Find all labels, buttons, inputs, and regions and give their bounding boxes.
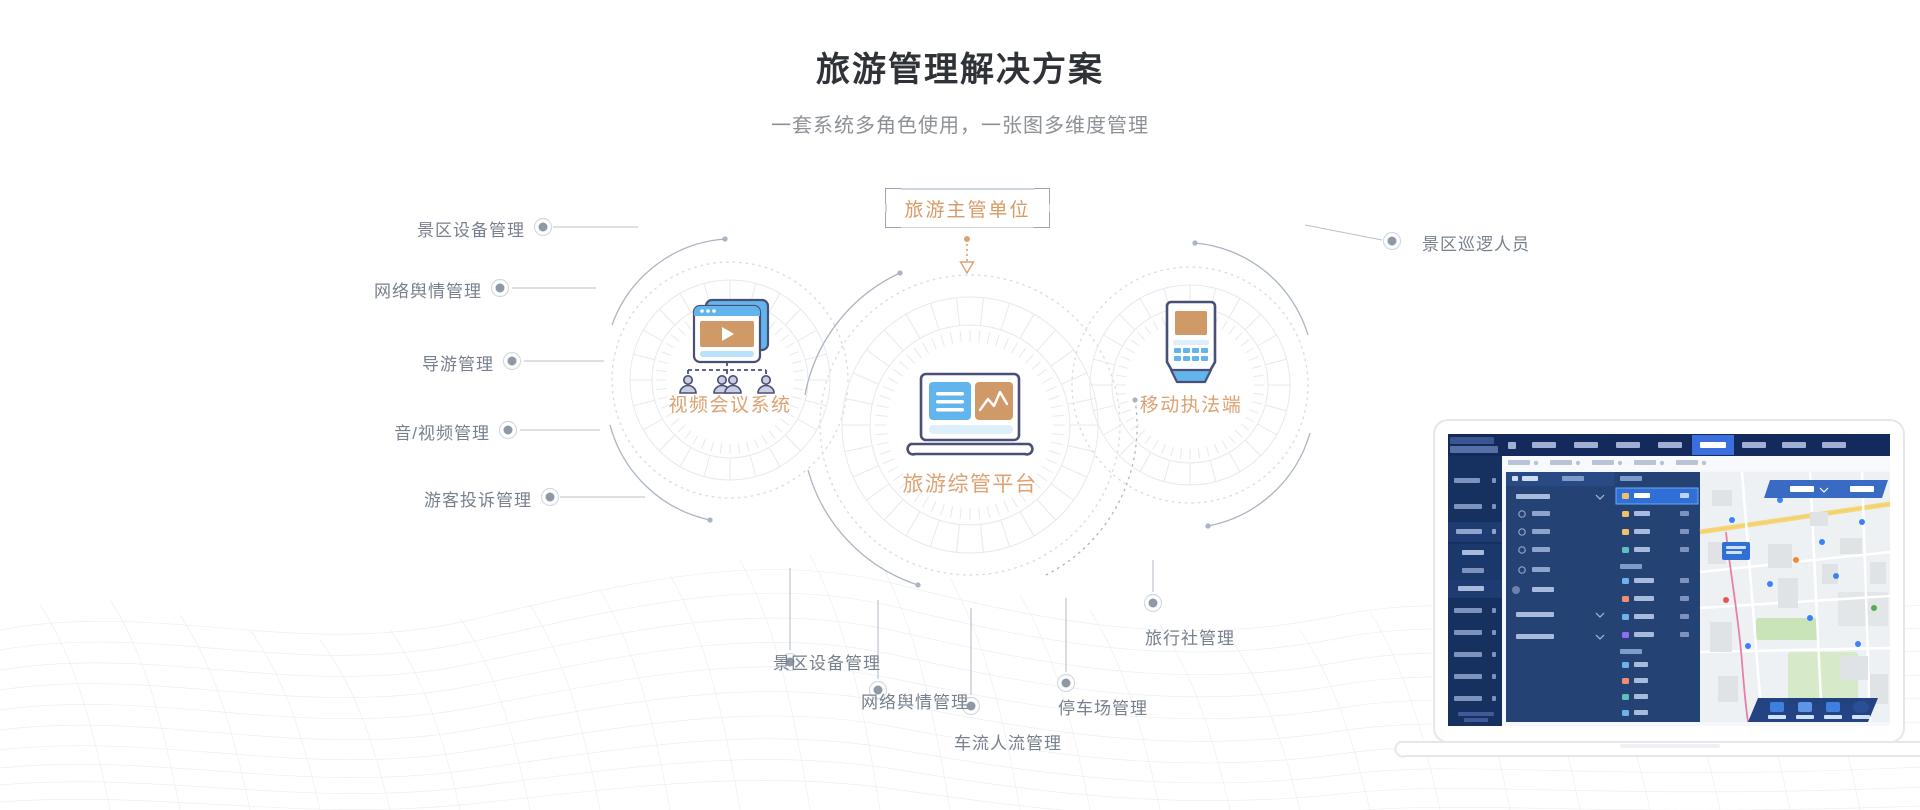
dashboard-screenshot <box>1448 434 1890 726</box>
left-dots <box>492 219 559 506</box>
bottom-label-4[interactable]: 旅行社管理 <box>1095 624 1285 649</box>
corner-bottom-left <box>885 212 901 228</box>
page-header: 旅游管理解决方案 一套系统多角色使用，一张图多维度管理 <box>0 0 1920 138</box>
corner-top-right <box>1034 188 1050 204</box>
node-label-mobile-enforcement: 移动执法端 <box>1105 390 1277 417</box>
left-label-3[interactable]: 音/视频管理 <box>265 419 490 444</box>
bottom-label-3[interactable]: 停车场管理 <box>1008 694 1198 719</box>
box-edge-bottom <box>901 227 1034 229</box>
authority-box[interactable]: 旅游主管单位 <box>885 188 1050 228</box>
box-edge-left <box>885 204 887 212</box>
solution-diagram-page: 旅游管理解决方案 一套系统多角色使用，一张图多维度管理 旅游主管单位 <box>0 0 1920 810</box>
authority-label: 旅游主管单位 <box>904 195 1030 222</box>
bottom-label-0[interactable]: 景区设备管理 <box>732 649 922 674</box>
node-label-video-conference: 视频会议系统 <box>640 390 820 417</box>
corner-top-left <box>885 188 901 204</box>
right-label-0[interactable]: 景区巡逻人员 <box>1422 230 1652 255</box>
left-label-0[interactable]: 景区设备管理 <box>300 216 525 241</box>
box-edge-top <box>901 188 1034 190</box>
left-connectors <box>512 227 645 497</box>
page-subtitle: 一套系统多角色使用，一张图多维度管理 <box>0 109 1920 138</box>
laptop-dashboard-icon <box>905 370 1035 462</box>
left-label-1[interactable]: 网络舆情管理 <box>257 277 482 302</box>
box-edge-right <box>1049 204 1051 212</box>
corner-bottom-right <box>1034 212 1050 228</box>
video-window-icon <box>672 290 792 395</box>
left-label-2[interactable]: 导游管理 <box>269 350 494 375</box>
node-label-tourism-platform: 旅游综管平台 <box>870 468 1070 498</box>
right-connectors <box>1305 225 1382 240</box>
bottom-label-2[interactable]: 车流人流管理 <box>913 729 1103 754</box>
left-label-4[interactable]: 游客投诉管理 <box>307 486 532 511</box>
laptop-mockup <box>1370 412 1920 802</box>
bottom-label-1[interactable]: 网络舆情管理 <box>820 688 1010 713</box>
handheld-device-icon <box>1155 300 1227 398</box>
page-title: 旅游管理解决方案 <box>0 42 1920 91</box>
authority-down-arrow-icon <box>955 235 979 275</box>
right-dots <box>1384 233 1401 250</box>
